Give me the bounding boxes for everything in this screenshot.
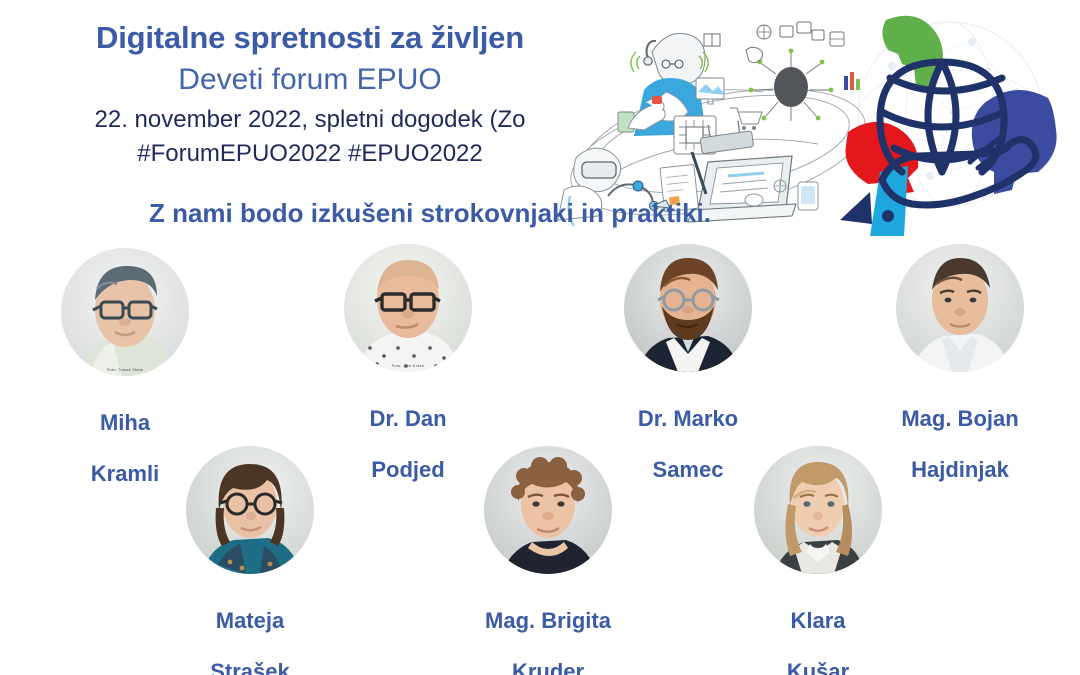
speaker-name-line1: Mag. Brigita: [485, 608, 611, 633]
speaker-name-line2: Podjed: [371, 457, 444, 482]
speaker-name-line2: Hajdinjak: [911, 457, 1009, 482]
speaker-name-line2: Kušar: [787, 659, 849, 675]
photo-credit: Foto: Tomaž Skale: [61, 367, 189, 372]
speaker-name: Mag. Brigita Kruder: [443, 582, 653, 675]
event-poster: Digitalne spretnosti za življen Deveti f…: [0, 0, 1080, 675]
avatar: [896, 244, 1024, 372]
poster-tagline: Z nami bodo izkušeni strokovnjaki in pra…: [0, 198, 860, 229]
photo-credit: Foto: Jure Eržen: [344, 363, 472, 368]
poster-title: Digitalne spretnosti za življen: [0, 20, 620, 57]
speaker-name-line1: Miha: [100, 410, 150, 435]
speaker-card-6: Mag. Brigita Kruder: [443, 446, 653, 675]
speaker-name-line1: Dr. Dan: [369, 406, 446, 431]
speaker-name: Klara Kušar: [713, 582, 923, 675]
avatar: Foto: Jure Eržen: [344, 244, 472, 372]
header-text-block: Digitalne spretnosti za življen Deveti f…: [0, 20, 620, 170]
avatar: [624, 244, 752, 372]
speaker-name-line1: Mag. Bojan: [901, 406, 1018, 431]
avatar: [484, 446, 612, 574]
poster-subtitle: Deveti forum EPUO: [0, 60, 620, 99]
speaker-name-line2: Kruder: [512, 659, 584, 675]
avatar: Foto: Tomaž Skale: [61, 248, 189, 376]
speaker-card-7: Klara Kušar: [713, 446, 923, 675]
speaker-card-5: Mateja Strašek: [145, 446, 355, 675]
speaker-name-line1: Dr. Marko: [638, 406, 738, 431]
poster-date-location: 22. november 2022, spletni dogodek (Zo: [0, 104, 620, 136]
speaker-name-line1: Klara: [790, 608, 845, 633]
avatar: [754, 446, 882, 574]
speaker-name-line1: Mateja: [216, 608, 284, 633]
poster-hashtags: #ForumEPUO2022 #EPUO2022: [0, 138, 620, 170]
epuo-logo: [820, 8, 1070, 236]
speaker-name: Mateja Strašek: [145, 582, 355, 675]
avatar: [186, 446, 314, 574]
speaker-name-line2: Strašek: [210, 659, 290, 675]
